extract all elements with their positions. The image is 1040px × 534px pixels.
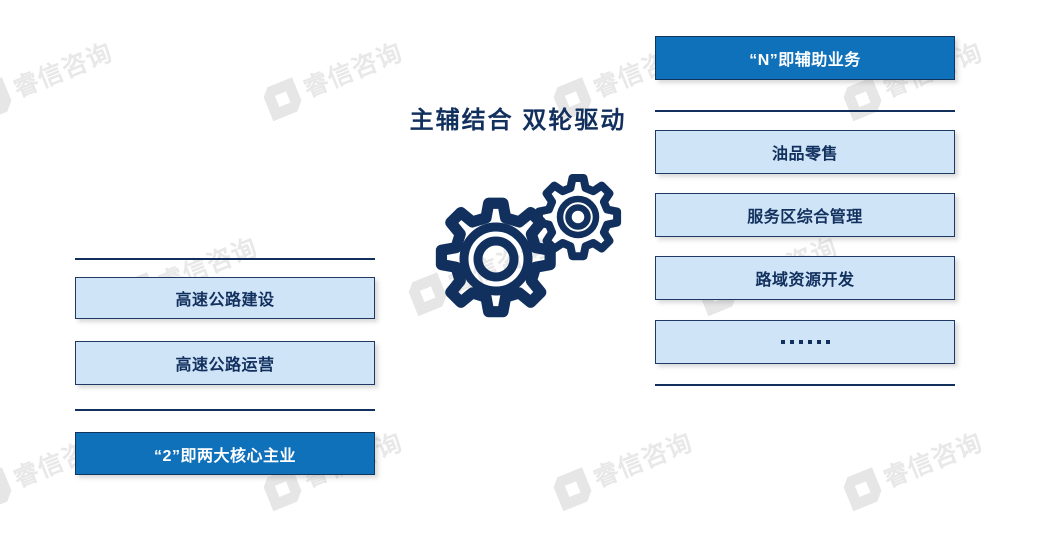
left-panel-footer[interactable]: “2”即两大核心主业 <box>75 432 375 475</box>
content-layer: 主辅结合 双轮驱动 高速公路建设 高速公路运 <box>0 0 1040 534</box>
right-panel-header-label: “N”即辅助业务 <box>749 46 861 70</box>
slide-canvas: 睿信咨询 睿信咨询 睿信咨询 睿信咨询 睿信咨询 睿信咨询 睿信咨询 睿信 <box>0 0 1040 534</box>
right-item-1-label: 服务区综合管理 <box>747 203 863 227</box>
left-item-0[interactable]: 高速公路建设 <box>75 277 375 319</box>
right-panel-divider-bottom <box>655 384 955 386</box>
left-item-1-label: 高速公路运营 <box>175 351 274 375</box>
right-item-1[interactable]: 服务区综合管理 <box>655 193 955 237</box>
right-item-3[interactable] <box>655 320 955 364</box>
right-item-2-label: 路域资源开发 <box>755 266 854 290</box>
left-panel-footer-label: “2”即两大核心主业 <box>154 442 296 466</box>
left-panel-divider-bottom <box>75 409 375 411</box>
right-item-0[interactable]: 油品零售 <box>655 130 955 174</box>
right-item-0-label: 油品零售 <box>772 140 838 164</box>
right-panel-divider-top <box>655 110 955 112</box>
left-item-0-label: 高速公路建设 <box>175 286 274 310</box>
right-panel-header[interactable]: “N”即辅助业务 <box>655 36 955 80</box>
right-item-2[interactable]: 路域资源开发 <box>655 256 955 300</box>
ellipsis-icon <box>781 340 830 344</box>
page-title: 主辅结合 双轮驱动 <box>393 100 643 135</box>
gears-icon <box>404 168 634 343</box>
left-panel-divider-top <box>75 258 375 260</box>
left-item-1[interactable]: 高速公路运营 <box>75 341 375 385</box>
